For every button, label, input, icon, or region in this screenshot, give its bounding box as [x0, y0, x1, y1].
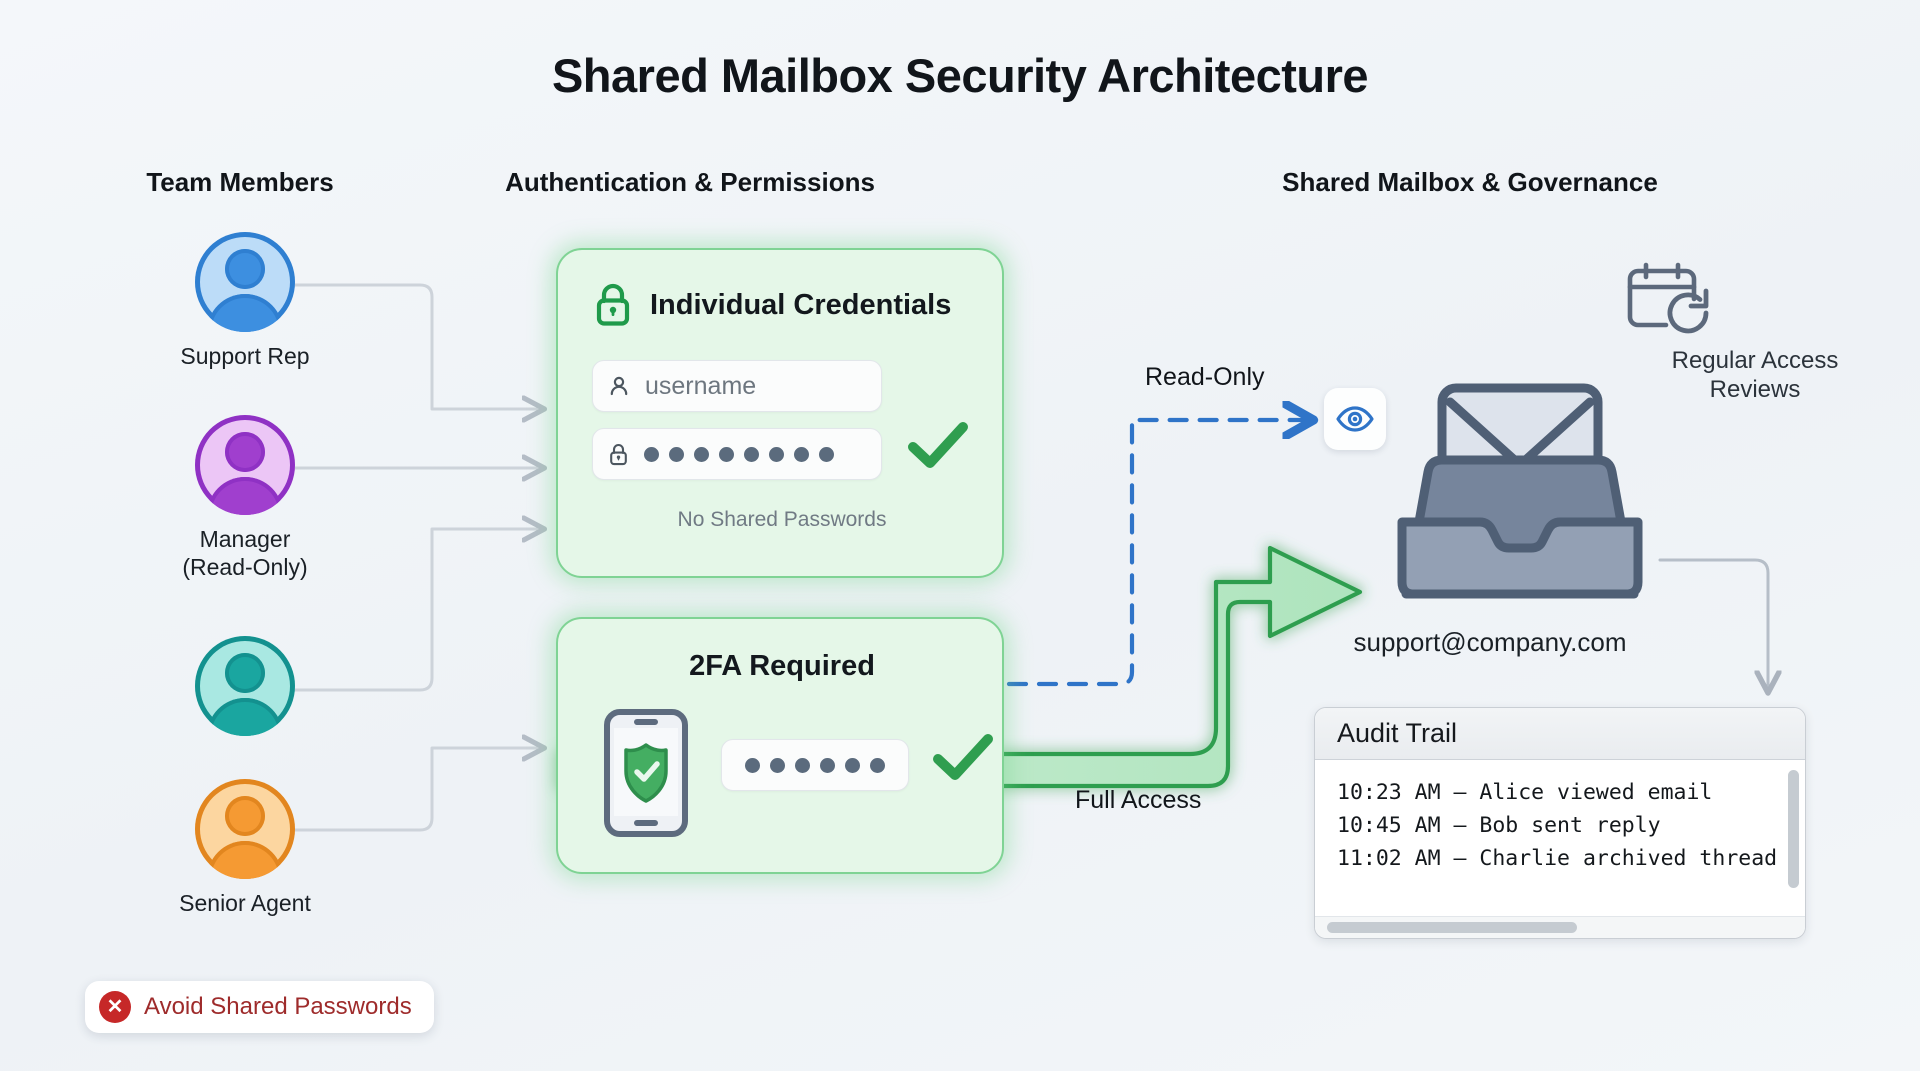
shared-mailbox-icon — [1380, 380, 1660, 600]
lock-icon — [592, 282, 634, 328]
reviews-label: Regular Access Reviews — [1620, 347, 1890, 405]
password-input[interactable] — [592, 428, 882, 480]
calendar-refresh-icon — [1620, 255, 1890, 341]
username-placeholder: username — [645, 372, 756, 401]
audit-trail-panel[interactable]: Audit Trail 10:23 AM – Alice viewed emai… — [1314, 707, 1806, 939]
individual-credentials-card: Individual Credentials username — [556, 248, 1004, 578]
card-title: Individual Credentials — [650, 289, 951, 322]
horizontal-scrollbar-track[interactable] — [1315, 916, 1805, 938]
audit-log-row: 10:23 AM – Alice viewed email — [1337, 776, 1785, 809]
person-label: Manager (Read-Only) — [130, 525, 360, 581]
person-label: Support Rep — [130, 342, 360, 370]
mailbox-address: support@company.com — [1290, 627, 1690, 658]
person-agent-teal[interactable] — [130, 636, 360, 746]
person-manager[interactable]: Manager (Read-Only) — [130, 415, 360, 581]
warning-text: Avoid Shared Passwords — [144, 993, 412, 1021]
avatar — [195, 779, 295, 879]
phone-shield-icon — [604, 709, 688, 837]
column-heading-team: Team Members — [0, 167, 480, 198]
horizontal-scrollbar[interactable] — [1327, 922, 1577, 933]
page-title: Shared Mailbox Security Architecture — [0, 48, 1920, 103]
no-shared-passwords-hint: No Shared Passwords — [558, 508, 1006, 532]
read-only-label: Read-Only — [1145, 363, 1265, 392]
twofa-code-input[interactable] — [721, 739, 909, 791]
status-badge: ✕ Avoid Shared Passwords — [85, 981, 434, 1033]
column-heading-auth: Authentication & Permissions — [430, 167, 950, 198]
person-senior-agent[interactable]: Senior Agent — [130, 779, 360, 917]
diagram-canvas: Shared Mailbox Security Architecture Tea… — [0, 0, 1920, 1071]
audit-trail-header: Audit Trail — [1315, 708, 1805, 760]
user-icon — [607, 374, 631, 398]
check-icon — [928, 727, 998, 787]
avatar — [195, 636, 295, 736]
avatar — [195, 232, 295, 332]
card-title: 2FA Required — [558, 650, 1006, 683]
check-icon — [903, 415, 973, 475]
eye-icon — [1336, 406, 1374, 432]
read-only-eye-chip[interactable] — [1324, 388, 1386, 450]
column-heading-mailbox: Shared Mailbox & Governance — [1090, 167, 1850, 198]
person-support-rep[interactable]: Support Rep — [130, 232, 360, 370]
audit-log-row: 10:45 AM – Bob sent reply — [1337, 809, 1785, 842]
two-factor-card: 2FA Required — [556, 617, 1004, 874]
avatar — [195, 415, 295, 515]
lock-small-icon — [607, 442, 630, 466]
password-dots — [644, 447, 834, 462]
username-input[interactable]: username — [592, 360, 882, 412]
audit-trail-body: 10:23 AM – Alice viewed email 10:45 AM –… — [1315, 760, 1805, 875]
read-only-flow-path — [1009, 420, 1310, 684]
full-access-label: Full Access — [1075, 786, 1201, 815]
code-dots — [745, 758, 885, 773]
regular-access-reviews: Regular Access Reviews — [1620, 255, 1890, 405]
error-circle-icon: ✕ — [99, 991, 131, 1023]
audit-log-row: 11:02 AM – Charlie archived thread — [1337, 842, 1785, 875]
person-label: Senior Agent — [130, 889, 360, 917]
mailbox-audit-connector — [1660, 560, 1768, 690]
vertical-scrollbar[interactable] — [1788, 770, 1799, 888]
